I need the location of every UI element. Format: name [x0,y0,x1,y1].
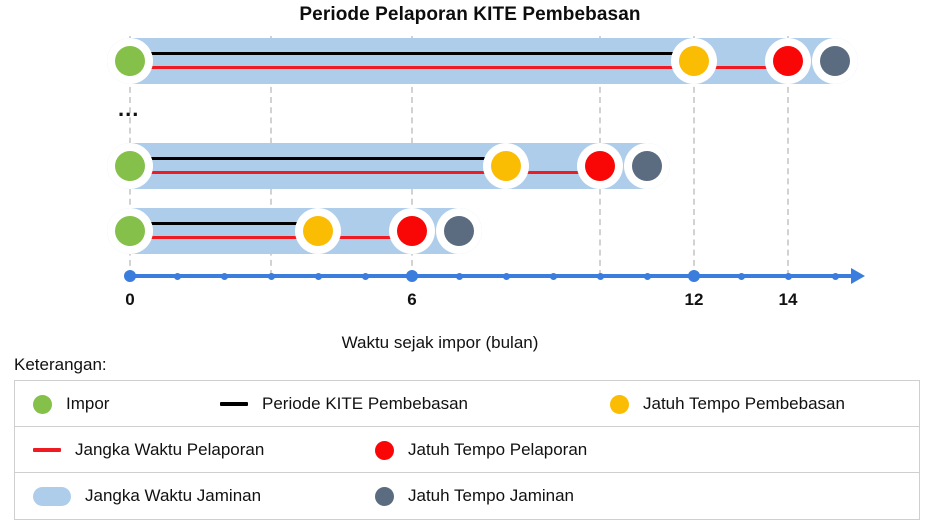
impor-node [107,143,153,189]
legend-item-label: Periode KITE Pembebasan [262,394,468,414]
jangka-waktu-jaminan-capsule-icon [33,487,71,506]
axis-minor-tick [550,273,557,280]
axis-title: Waktu sejak impor (bulan) [0,333,880,353]
legend-item-label: Jangka Waktu Pelaporan [75,440,264,460]
jangka-waktu-pelaporan-line [130,236,412,239]
jangka-waktu-pelaporan-line [130,171,600,174]
legend-row: Jangka Waktu PelaporanJatuh Tempo Pelapo… [15,427,919,473]
jatuh-tempo-jaminan-node-core [632,151,662,181]
axis-tick-label: 14 [768,290,808,310]
rows-ellipsis: ... [118,104,139,114]
jatuh-tempo-jaminan-dot-icon [375,487,394,506]
jatuh-tempo-pembebasan-node-core [491,151,521,181]
legend-item: Jatuh Tempo Jaminan [375,473,574,519]
axis-minor-tick [785,273,792,280]
legend-item: Periode KITE Pembebasan [220,381,468,427]
impor-node-core [115,151,145,181]
axis-tick-label: 6 [392,290,432,310]
axis-tick-label: 12 [674,290,714,310]
axis-minor-tick [503,273,510,280]
axis-minor-tick [362,273,369,280]
axis-major-tick [688,270,700,282]
axis-minor-tick [738,273,745,280]
jatuh-tempo-pembebasan-node [295,208,341,254]
impor-dot-icon [33,395,52,414]
periode-kite-line-icon [220,402,248,406]
jatuh-tempo-jaminan-node [624,143,670,189]
jatuh-tempo-pembebasan-node-core [303,216,333,246]
legend-item: Jangka Waktu Jaminan [33,473,261,519]
axis-minor-tick [832,273,839,280]
jatuh-tempo-pembebasan-dot-icon [610,395,629,414]
jatuh-tempo-pelaporan-node-core [397,216,427,246]
legend-item-label: Jatuh Tempo Pembebasan [643,394,845,414]
axis-minor-tick [221,273,228,280]
legend-item-label: Impor [66,394,109,414]
legend-item: Jatuh Tempo Pelaporan [375,427,587,473]
jatuh-tempo-pelaporan-node [389,208,435,254]
axis-major-tick [406,270,418,282]
axis-minor-tick [597,273,604,280]
jatuh-tempo-pelaporan-node-core [585,151,615,181]
axis-major-tick [124,270,136,282]
periode-kite-line [130,157,506,160]
axis-minor-tick [268,273,275,280]
jangka-waktu-pelaporan-line-icon [33,448,61,452]
legend-item-label: Jatuh Tempo Pelaporan [408,440,587,460]
legend-item-label: Jangka Waktu Jaminan [85,486,261,506]
axis-minor-tick [174,273,181,280]
legend-item: Impor [33,381,109,427]
periode-kite-line [130,222,318,225]
legend-item: Jatuh Tempo Pembebasan [610,381,845,427]
axis-line [130,274,853,278]
jatuh-tempo-jaminan-node [436,208,482,254]
axis-arrow-icon [851,268,865,284]
axis-minor-tick [644,273,651,280]
impor-node [107,208,153,254]
axis-tick-label: 0 [110,290,150,310]
legend-heading: Keterangan: [14,355,107,375]
legend-item-label: Jatuh Tempo Jaminan [408,486,574,506]
jatuh-tempo-pelaporan-node [577,143,623,189]
time-axis: 061214 [0,0,940,90]
impor-node-core [115,216,145,246]
axis-minor-tick [315,273,322,280]
legend-row: ImporPeriode KITE PembebasanJatuh Tempo … [15,381,919,427]
axis-minor-tick [456,273,463,280]
jatuh-tempo-jaminan-node-core [444,216,474,246]
legend-row: Jangka Waktu JaminanJatuh Tempo Jaminan [15,473,919,519]
legend-item: Jangka Waktu Pelaporan [33,427,264,473]
jatuh-tempo-pembebasan-node [483,143,529,189]
legend-box: ImporPeriode KITE PembebasanJatuh Tempo … [14,380,920,520]
jatuh-tempo-pelaporan-dot-icon [375,441,394,460]
